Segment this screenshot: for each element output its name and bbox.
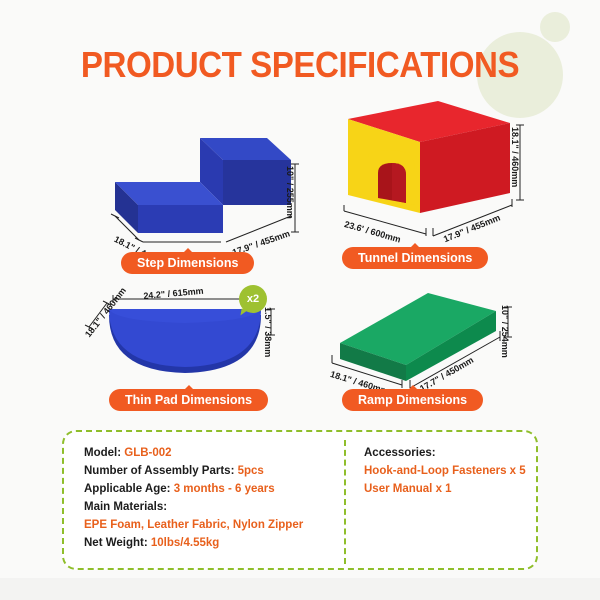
spec-value-model: GLB-002 <box>124 447 171 459</box>
panel-tunnel: 23.6' / 600mm 17.9" / 455mm 18.1" / 460m… <box>320 95 535 275</box>
spec-label-net-weight: Net Weight: <box>84 537 148 549</box>
thinpad-dim-height: 1.5" / 38mm <box>263 307 273 357</box>
spec-column-divider <box>344 440 346 564</box>
spec-label-main-materials: Main Materials: <box>84 501 167 513</box>
page-title: PRODUCT SPECIFICATIONS <box>24 44 576 86</box>
spec-row-assembly-parts: Number of Assembly Parts: 5pcs <box>84 462 334 480</box>
infographic-page: PRODUCT SPECIFICATIONS <box>0 0 600 600</box>
spec-value-accessory-2: User Manual x 1 <box>364 480 534 498</box>
label-thinpad-dimensions: Thin Pad Dimensions <box>109 389 268 411</box>
spec-row-model: Model: GLB-002 <box>84 444 334 462</box>
ramp-dim-height: 10" / 254mm <box>500 305 510 358</box>
panel-step: 18.1" / 460mm 17.9" / 455mm 10" / 255mm … <box>95 130 310 275</box>
spec-value-net-weight: 10lbs/4.55kg <box>151 537 219 549</box>
spec-column-right: Accessories: Hook-and-Loop Fasteners x 5… <box>364 444 534 498</box>
spec-label-accessories: Accessories: <box>364 444 534 462</box>
spec-label-applicable-age: Applicable Age: <box>84 483 170 495</box>
spec-label-model: Model: <box>84 447 121 459</box>
spec-row-applicable-age: Applicable Age: 3 months - 6 years <box>84 480 334 498</box>
label-ramp-dimensions: Ramp Dimensions <box>342 389 483 411</box>
spec-value-applicable-age: 3 months - 6 years <box>174 483 275 495</box>
panel-thinpad: 18.1" / 460mm 24.2" / 615mm 1.5" / 38mm … <box>75 285 310 415</box>
content-card: PRODUCT SPECIFICATIONS <box>0 0 600 578</box>
spec-value-accessory-1: Hook-and-Loop Fasteners x 5 <box>364 462 534 480</box>
spec-row-main-materials: Main Materials: <box>84 498 334 516</box>
spec-row-net-weight: Net Weight: 10lbs/4.55kg <box>84 534 334 552</box>
label-tunnel-dimensions: Tunnel Dimensions <box>342 247 488 269</box>
spec-column-left: Model: GLB-002 Number of Assembly Parts:… <box>84 444 334 552</box>
step-dim-height: 10" / 255mm <box>285 166 295 219</box>
decorative-circle-small <box>540 12 570 42</box>
panel-ramp: 18.1" / 460mm 17.7" / 450mm 10" / 254mm … <box>310 285 535 415</box>
quantity-badge-x2: x2 <box>239 285 267 313</box>
label-step-dimensions: Step Dimensions <box>121 252 254 274</box>
spec-value-main-materials: EPE Foam, Leather Fabric, Nylon Zipper <box>84 516 334 534</box>
specifications-box: Model: GLB-002 Number of Assembly Parts:… <box>62 430 538 570</box>
page-bottom-strip <box>0 578 600 600</box>
spec-value-assembly-parts: 5pcs <box>238 465 264 477</box>
tunnel-dim-height: 18.1" / 460mm <box>510 127 520 187</box>
spec-label-assembly-parts: Number of Assembly Parts: <box>84 465 234 477</box>
